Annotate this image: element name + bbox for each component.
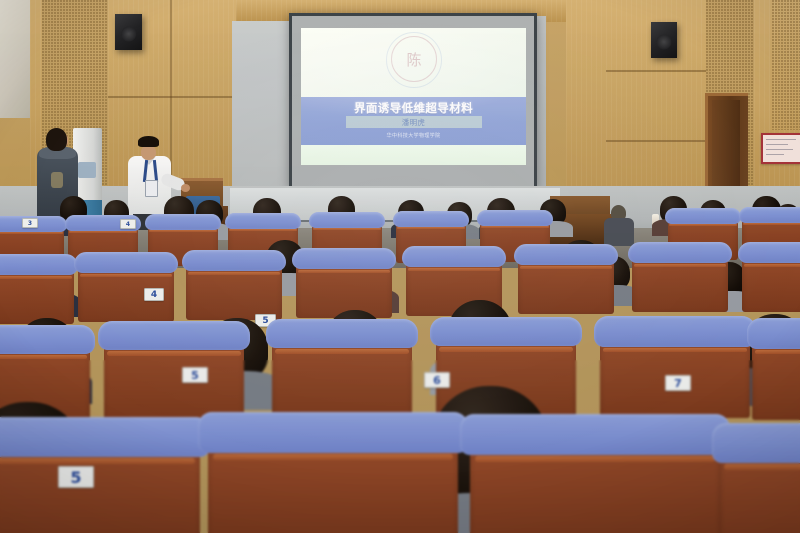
auditorium-seat[interactable] [208,428,458,533]
seat-number-plate: 4 [120,219,136,229]
sidewall-board [232,21,292,189]
seat-trim [520,266,612,269]
seat-trim [755,350,800,355]
seat-cushion-back [738,242,800,263]
seat-trim [603,348,747,353]
wall-panel-right-a [566,0,606,210]
seat-cushion-back [182,250,286,271]
seat-trim [0,355,87,359]
seat-number-plate: 7 [665,375,691,391]
seat-cushion-back [98,321,249,351]
auditorium-seat[interactable] [186,258,282,320]
seat-cushion-back [477,210,553,226]
auditorium-seat[interactable] [296,256,392,318]
seat-cushion-back [665,208,741,224]
seat-trim [743,223,800,225]
presenter-face [141,145,156,160]
seat-cushion-back [739,207,800,223]
auditorium-seat[interactable] [632,250,728,312]
water-dispenser-tap-icon [78,162,96,178]
slide-speaker-box: 潘明虎 [346,116,482,128]
seat-cushion-back [514,244,618,265]
seat-trim [298,270,390,273]
auditorium-seat[interactable] [600,328,750,418]
seat-number-plate: 6 [424,372,450,388]
wall-speaker-left-icon [115,14,142,50]
wall-speaker-right-icon [651,22,677,58]
attendee-head [46,128,67,151]
seat-trim [397,227,464,229]
seat-trim [275,349,409,353]
seat-cushion-back [74,252,178,273]
seat-cushion-back [145,214,221,230]
lecture-hall-photo: 陈 界面诱导低维超导材料 潘明虎 华中科技大学物理学院 [0,0,800,533]
seat-trim [475,456,715,462]
seat-cushion-back [430,317,581,347]
presentation-slide: 陈 界面诱导低维超导材料 潘明虎 华中科技大学物理学院 [301,28,526,165]
seat-trim [408,268,500,271]
seat-cushion-back [594,316,756,347]
seat-trim [0,458,195,464]
seat-cushion-back [0,417,210,457]
seated-guest-torso [604,218,634,246]
slide-speaker-name: 潘明虎 [402,117,425,128]
auditorium-seat[interactable] [0,262,74,324]
seat-cushion-back [712,423,800,463]
seat-cushion-back [402,246,506,267]
seat-number-plate: 3 [22,218,38,228]
seat-trim [669,224,736,226]
university-seal-icon: 陈 [391,36,437,82]
presenter-hand [181,184,190,192]
seat-trim [439,347,573,351]
auditorium-seat[interactable] [104,332,244,420]
auditorium-seat[interactable] [518,252,614,314]
seat-cushion-back [393,211,469,227]
slide-affiliation: 华中科技大学物理学院 [301,132,526,139]
window-light-left [0,0,30,118]
seat-cushion-back [460,414,730,455]
seat-trim [188,272,280,275]
auditorium-seat[interactable] [742,250,800,312]
seat-cushion-back [292,248,396,269]
seat-cushion-back [0,325,95,354]
seat-trim [313,228,380,230]
presenter-hair [138,136,159,147]
slide-title: 界面诱导低维超导材料 [301,100,526,116]
seat-trim [213,454,453,460]
seat-cushion-back [225,213,301,229]
seat-number-plate: 5 [58,466,94,488]
auditorium-seat[interactable] [720,438,800,533]
seat-cushion-back [266,319,417,349]
seat-cushion-back [198,412,468,453]
wall-notice-board [761,133,800,164]
seat-trim [0,232,63,234]
wall-seam-3 [606,70,706,72]
wall-panel-acoustic-far-right [772,0,800,130]
seat-cushion-back [309,212,385,228]
seat-number-plate: 4 [144,288,164,301]
seat-trim [724,464,800,470]
seat-number-plate: 5 [182,367,208,383]
wall-seam-4 [606,140,706,142]
seat-cushion-back [628,242,732,263]
seat-trim [149,230,216,232]
auditorium-seat[interactable] [272,330,412,418]
auditorium-seat[interactable] [470,430,720,533]
presenter-badge [145,180,158,197]
screen-right-strip [537,16,546,186]
seat-cushion-back [0,254,78,275]
attendee-shirt-print [51,172,63,188]
auditorium-seat[interactable] [0,432,200,533]
seat-trim [0,276,72,279]
seat-trim [229,229,296,231]
seat-trim [481,226,548,228]
auditorium-seat[interactable] [752,330,800,420]
seat-trim [107,351,241,355]
seat-trim [634,264,726,267]
wall-seam-1 [108,96,236,98]
seat-trim [744,264,800,267]
seat-trim [69,231,136,233]
seat-cushion-back [747,318,800,349]
slide-footer-band [301,145,526,165]
seat-trim [80,274,172,277]
